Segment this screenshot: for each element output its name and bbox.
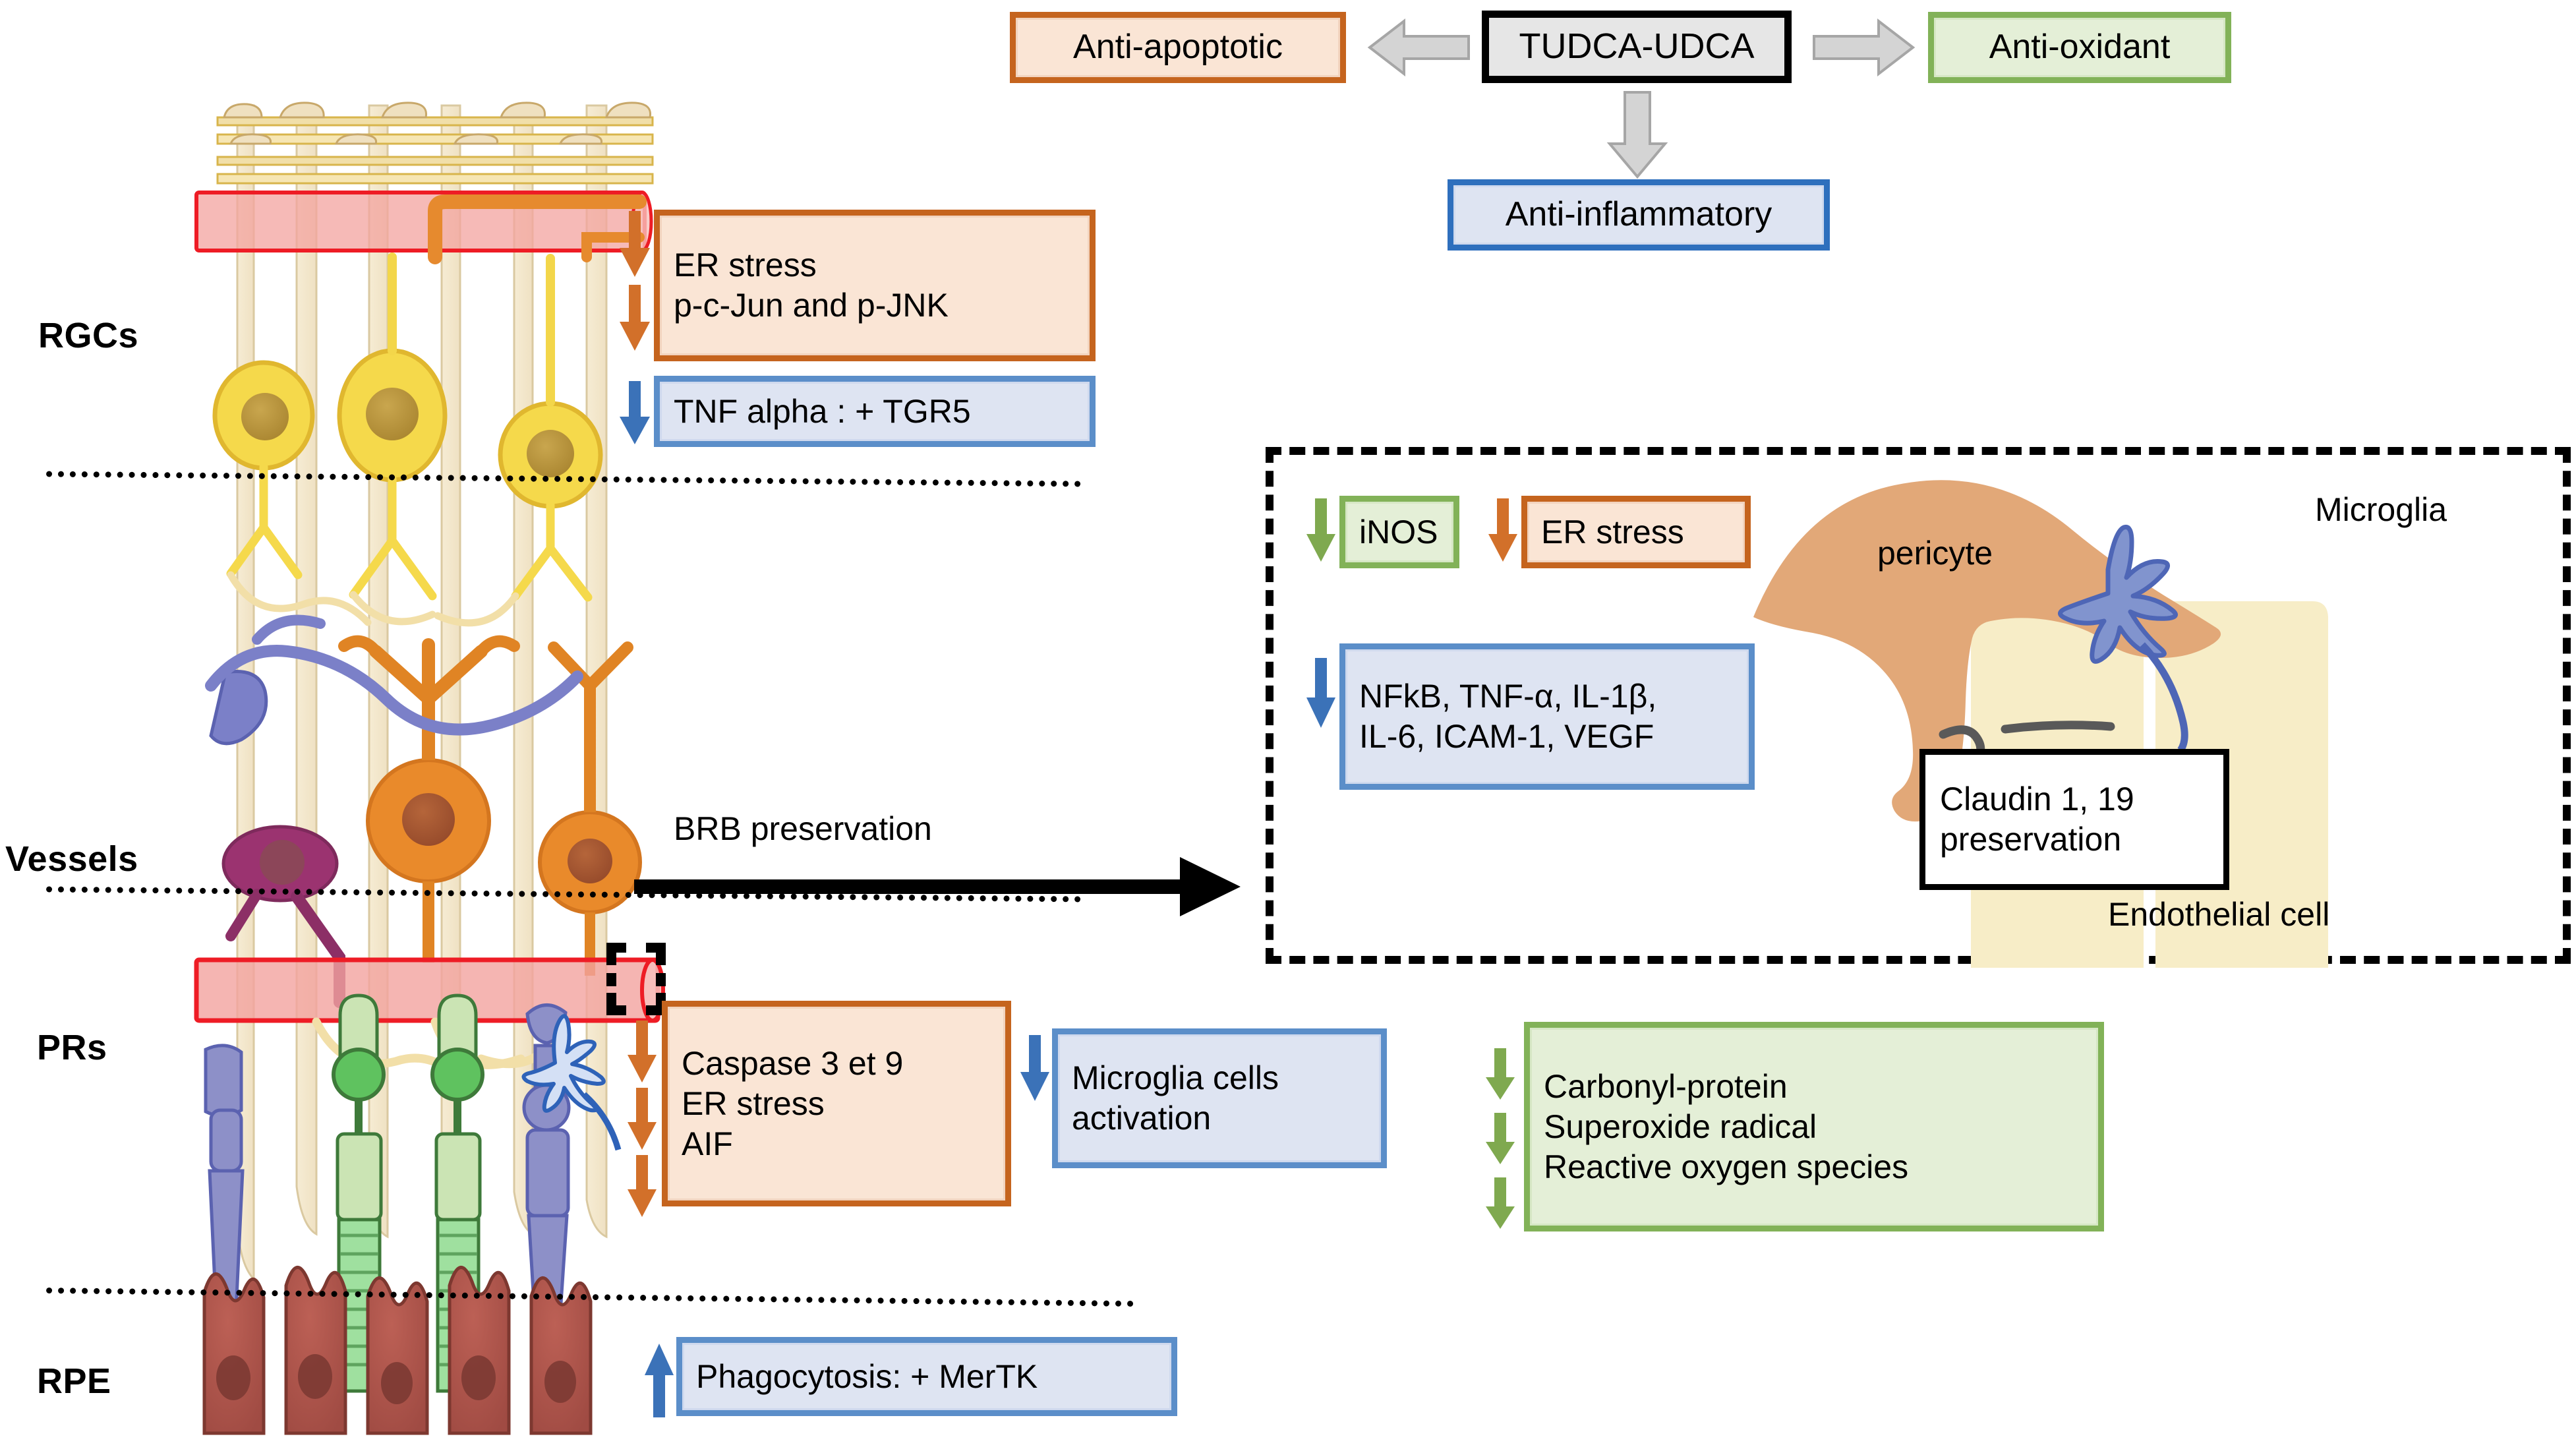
arrow-down-icon (628, 1088, 657, 1150)
anti-apoptotic-label: Anti-apoptotic (1073, 26, 1283, 68)
brb-er-stress-label: ER stress (1541, 512, 1731, 552)
brb-cytokines-line-1: NFkB, TNF-α, IL-1β, (1359, 676, 1735, 717)
layer-label-prs: PRs (37, 1027, 107, 1068)
pr-microglia-box: Microglia cells activation (1052, 1028, 1387, 1168)
arrow-down-icon (620, 381, 650, 444)
rpe-phagocytosis-line-1: Phagocytosis: + MerTK (696, 1357, 1157, 1397)
brb-claudin-line-2: preservation (1940, 819, 2209, 860)
anti-oxidant-label: Anti-oxidant (1989, 26, 2171, 68)
anti-apoptotic-box: Anti-apoptotic (1010, 12, 1346, 83)
brb-cytokines-line-2: IL-6, ICAM-1, VEGF (1359, 717, 1735, 757)
pr-caspase-line-2: ER stress (682, 1084, 991, 1124)
pr-oxidative-line-1: Carbonyl-protein (1544, 1067, 2084, 1107)
arrow-down-icon (1486, 1177, 1515, 1229)
anti-oxidant-box: Anti-oxidant (1928, 12, 2231, 83)
pr-caspase-line-1: Caspase 3 et 9 (682, 1044, 991, 1084)
brb-preservation-arrow-icon (634, 857, 1241, 916)
layer-label-rgcs: RGCs (38, 315, 138, 356)
rgc-er-stress-line-1: ER stress (674, 245, 1076, 285)
arrow-down-icon (1607, 92, 1668, 177)
brb-inos-box: iNOS (1339, 496, 1459, 568)
pr-oxidative-line-3: Reactive oxygen species (1544, 1147, 2084, 1187)
layer-label-rpe: RPE (37, 1361, 111, 1402)
rgc-tnf-line-1: TNF alpha : + TGR5 (674, 392, 1076, 432)
pr-oxidative-line-2: Superoxide radical (1544, 1107, 2084, 1147)
tudca-udca-label: TUDCA-UDCA (1519, 25, 1755, 69)
pr-oxidative-box: Carbonyl-protein Superoxide radical Reac… (1524, 1022, 2104, 1231)
rgc-er-stress-box: ER stress p-c-Jun and p-JNK (654, 210, 1096, 361)
layer-label-vessels: Vessels (5, 839, 138, 879)
arrow-down-icon (1020, 1035, 1049, 1101)
arrow-down-icon (628, 1155, 657, 1217)
pr-microglia-line-2: activation (1072, 1098, 1367, 1139)
arrow-down-icon (1488, 498, 1517, 562)
brb-preservation-label: BRB preservation (674, 810, 932, 848)
anti-inflammatory-box: Anti-inflammatory (1448, 179, 1830, 251)
arrow-down-icon (1486, 1113, 1515, 1164)
arrow-left-icon (1370, 18, 1469, 76)
anti-inflammatory-label: Anti-inflammatory (1506, 194, 1772, 235)
arrow-down-icon (620, 285, 650, 351)
brb-cytokines-box: NFkB, TNF-α, IL-1β, IL-6, ICAM-1, VEGF (1339, 643, 1755, 790)
vessel-zoom-selection-marker (606, 943, 666, 1015)
tudca-udca-box: TUDCA-UDCA (1482, 11, 1792, 83)
rpe-phagocytosis-box: Phagocytosis: + MerTK (676, 1337, 1177, 1416)
pr-caspase-box: Caspase 3 et 9 ER stress AIF (662, 1001, 1011, 1206)
arrow-down-icon (620, 211, 650, 277)
retina-cross-section-illustration (218, 105, 653, 1391)
arrow-up-icon (645, 1344, 674, 1417)
rgc-er-stress-line-2: p-c-Jun and p-JNK (674, 285, 1076, 326)
arrow-down-icon (1306, 498, 1335, 562)
arrow-down-icon (1486, 1048, 1515, 1100)
pr-microglia-line-1: Microglia cells (1072, 1058, 1367, 1098)
arrow-down-icon (1306, 658, 1335, 728)
deep-vessel (196, 960, 663, 1021)
rgc-tnf-box: TNF alpha : + TGR5 (654, 376, 1096, 447)
brb-claudin-line-1: Claudin 1, 19 (1940, 779, 2209, 819)
brb-er-stress-box: ER stress (1521, 496, 1751, 568)
pr-caspase-line-3: AIF (682, 1124, 991, 1164)
brb-claudin-box: Claudin 1, 19 preservation (1919, 749, 2229, 890)
arrow-right-icon (1814, 18, 1913, 76)
brb-inos-label: iNOS (1359, 512, 1440, 552)
endothelial-cell-label: Endothelial cell (2108, 895, 2329, 934)
arrow-down-icon (628, 1021, 657, 1082)
microglia-label: Microglia (2315, 490, 2447, 529)
pericyte-label: pericyte (1877, 534, 1993, 572)
